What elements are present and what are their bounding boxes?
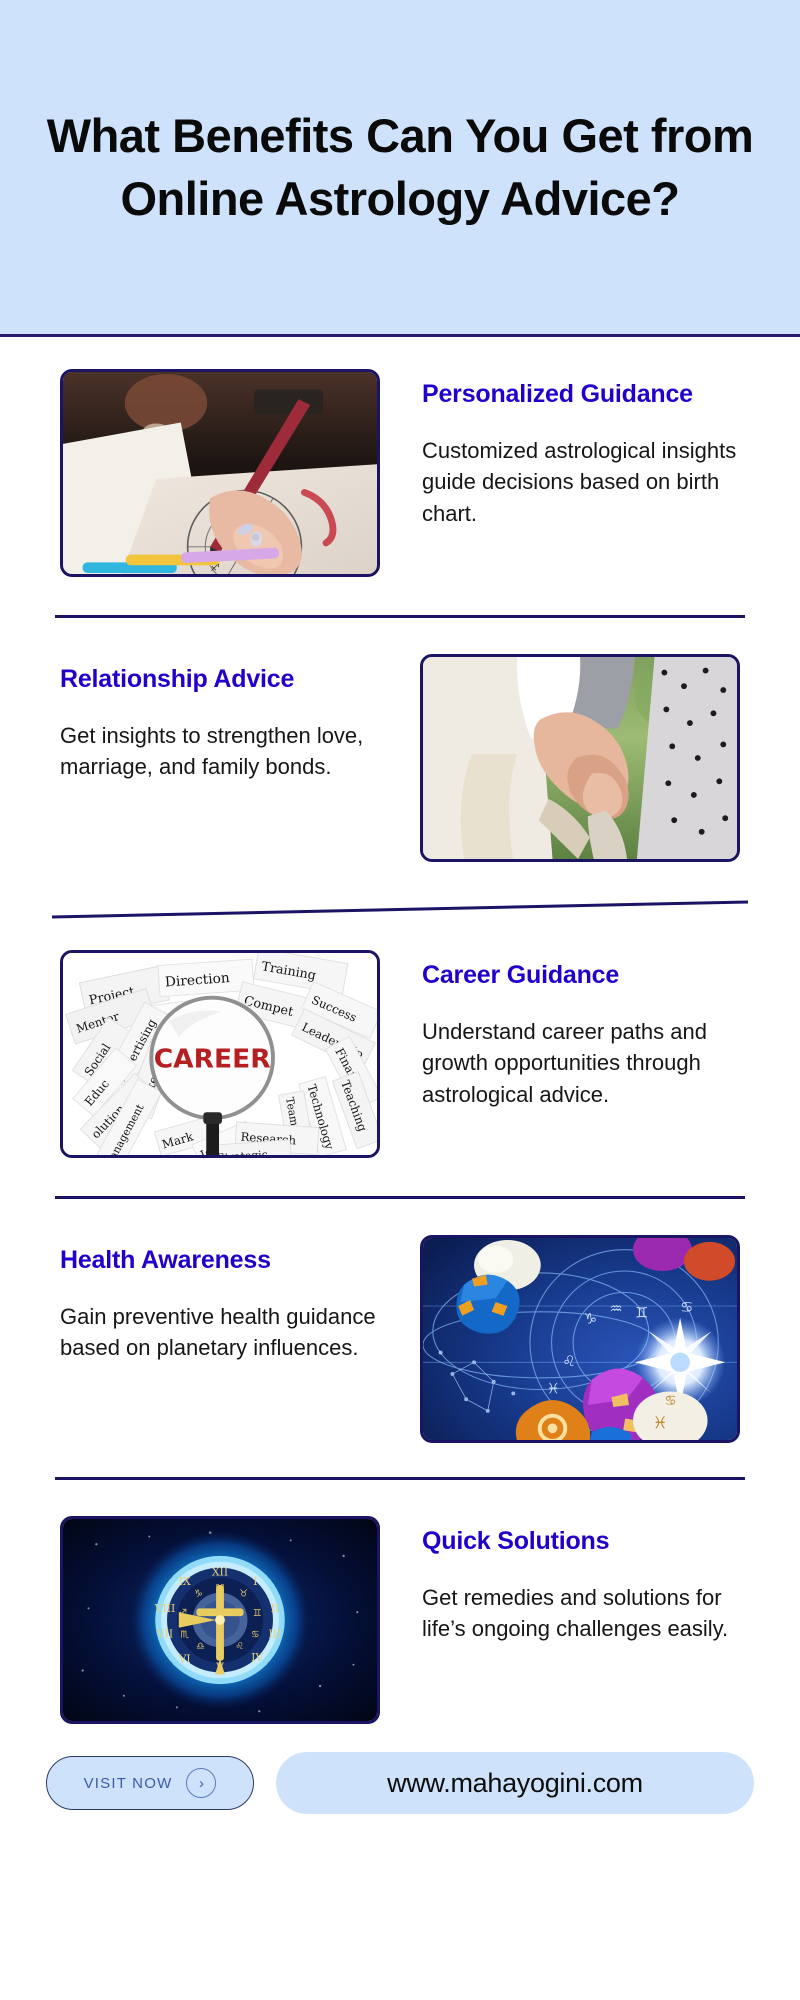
benefit-title: Relationship Advice [60, 666, 378, 694]
svg-text:♉: ♉ [239, 1589, 248, 1600]
visit-now-button[interactable]: VISIT NOW › [46, 1756, 254, 1810]
footer-bar: VISIT NOW › www.mahayogini.com [0, 1752, 800, 1814]
svg-text:VII: VII [156, 1628, 173, 1641]
section-divider-4 [55, 1477, 745, 1480]
thumbnail-holding-hands [420, 654, 740, 862]
svg-text:VIII: VIII [154, 1602, 176, 1615]
benefit-text-column: Career Guidance Understand career paths … [380, 950, 740, 1111]
svg-text:XII: XII [212, 1565, 228, 1578]
svg-text:♒: ♒ [609, 1301, 622, 1318]
section-divider-1 [55, 615, 745, 618]
visit-now-label: VISIT NOW [84, 1775, 173, 1792]
svg-text:♊: ♊ [635, 1305, 648, 1322]
benefit-description: Gain preventive health guidance based on… [60, 1301, 378, 1365]
benefit-text-column: Quick Solutions Get remedies and solutio… [380, 1516, 740, 1645]
benefit-title: Career Guidance [422, 962, 740, 990]
thumbnail-birth-chart: ♈ ♉ ♐ ♑ [60, 369, 380, 577]
svg-text:♎: ♎ [196, 1641, 205, 1652]
svg-text:♓: ♓ [653, 1413, 668, 1432]
svg-text:IV: IV [251, 1651, 263, 1664]
section-divider-2-slanted [50, 898, 750, 920]
svg-text:♌: ♌ [235, 1641, 244, 1652]
chevron-right-icon: › [186, 1768, 216, 1798]
svg-text:♌: ♌ [562, 1353, 575, 1370]
svg-text:♓: ♓ [547, 1380, 560, 1397]
svg-text:♑: ♑ [194, 1589, 203, 1600]
svg-text:♏: ♏ [180, 1630, 189, 1641]
benefit-description: Get remedies and solutions for life’s on… [422, 1582, 740, 1646]
benefit-title: Quick Solutions [422, 1528, 740, 1556]
benefit-text-column: Personalized Guidance Customized astrolo… [380, 369, 740, 530]
header-banner: What Benefits Can You Get from Online As… [0, 0, 800, 337]
svg-text:♑: ♑ [584, 1311, 597, 1328]
page-title: What Benefits Can You Get from Online As… [0, 104, 800, 231]
svg-text:IX: IX [179, 1575, 191, 1588]
benefit-block-personalized-guidance: ♈ ♉ ♐ ♑ Personalized Guidance Customized… [0, 369, 800, 577]
benefit-block-health-awareness: ♑♊♋ ♌♒♓ [0, 1235, 800, 1443]
svg-text:VI: VI [178, 1653, 191, 1666]
section-divider-3 [55, 1196, 745, 1199]
svg-text:I: I [253, 1575, 257, 1588]
benefit-block-career-guidance: Project Direction Training Mentor Ideas … [0, 950, 800, 1158]
benefit-text-column: Health Awareness Gain preventive health … [60, 1235, 420, 1364]
benefit-block-quick-solutions: XIIIII IIIIVV VIVIIVIII IX ♈♉♊ ♋♌♍ ♎♏♐ ♑ [0, 1516, 800, 1724]
benefit-title: Personalized Guidance [422, 381, 740, 409]
benefit-description: Get insights to strengthen love, marriag… [60, 720, 378, 784]
svg-text:III: III [269, 1628, 282, 1641]
svg-text:CAREER: CAREER [154, 1045, 271, 1075]
website-url-pill[interactable]: www.mahayogini.com [276, 1752, 754, 1814]
thumbnail-zodiac-clock: XIIIII IIIIVV VIVIIVIII IX ♈♉♊ ♋♌♍ ♎♏♐ ♑ [60, 1516, 380, 1724]
thumbnail-zodiac-dice: ♑♊♋ ♌♒♓ [420, 1235, 740, 1443]
svg-text:♋: ♋ [664, 1393, 676, 1409]
svg-text:II: II [271, 1602, 280, 1615]
benefit-block-relationship-advice: Relationship Advice Get insights to stre… [0, 654, 800, 862]
benefit-description: Customized astrological insights guide d… [422, 435, 740, 531]
website-url-text: www.mahayogini.com [387, 1768, 643, 1799]
benefit-description: Understand career paths and growth oppor… [422, 1016, 740, 1112]
thumbnail-career-word-cloud: Project Direction Training Mentor Ideas … [60, 950, 380, 1158]
svg-text:♊: ♊ [253, 1608, 262, 1619]
svg-text:♋: ♋ [251, 1630, 260, 1641]
benefit-title: Health Awareness [60, 1247, 378, 1275]
benefit-text-column: Relationship Advice Get insights to stre… [60, 654, 420, 783]
benefits-list: ♈ ♉ ♐ ♑ Personalized Guidance Customized… [0, 369, 800, 1814]
svg-text:♋: ♋ [680, 1299, 693, 1316]
